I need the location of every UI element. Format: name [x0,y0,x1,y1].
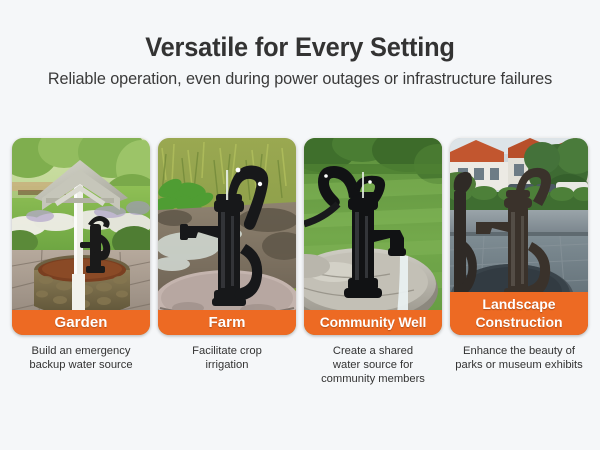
card-caption-garden: Build an emergency backup water source [12,344,150,372]
caption-line: Enhance the beauty of [463,345,575,357]
card-label-farm: Farm [208,314,245,331]
garden-well-photo [12,138,150,335]
card-label-community-well: Community Well [320,315,426,330]
use-case-card-farm[interactable]: Farm [158,138,296,335]
caption-line: parks or museum exhibits [455,359,582,371]
use-case-column-farm: Farm Facilitate crop irrigation [158,138,296,387]
use-case-card-community-well[interactable]: Community Well [304,138,442,335]
card-caption-community-well: Create a shared water source for communi… [304,344,442,387]
use-case-column-garden: Garden Build an emergency backup water s… [12,138,150,387]
use-case-column-landscape-construction: Landscape Construction Enhance the beaut… [450,138,588,387]
page-title: Versatile for Every Setting [18,0,582,61]
card-label-band-farm: Farm [158,310,296,335]
caption-line: Create a shared [333,345,413,357]
use-case-card-row: Garden Build an emergency backup water s… [12,138,588,387]
caption-line: irrigation [206,359,249,371]
card-label-landscape-construction: Landscape [482,296,555,313]
card-caption-farm: Facilitate crop irrigation [158,344,296,372]
caption-line: backup water source [29,359,132,371]
page-subtitle: Reliable operation, even during power ou… [5,61,596,89]
card-label-band-community-well: Community Well [304,310,442,335]
use-case-card-garden[interactable]: Garden [12,138,150,335]
community-well-photo [304,138,442,335]
use-case-column-community-well: Community Well Create a shared water sou… [304,138,442,387]
caption-line: Build an emergency [32,345,131,357]
farm-pump-photo [158,138,296,335]
use-case-card-landscape-construction[interactable]: Landscape Construction [450,138,588,335]
promo-banner: Versatile for Every Setting Reliable ope… [0,0,600,450]
caption-line: water source for [333,359,413,371]
card-label-garden: Garden [54,314,107,331]
caption-line: Facilitate crop [192,345,262,357]
card-label-band-landscape-construction: Landscape Construction [450,292,588,335]
card-label-band-garden: Garden [12,310,150,335]
header: Versatile for Every Setting Reliable ope… [0,0,600,89]
card-label-landscape-construction-line2: Construction [475,314,562,331]
card-caption-landscape-construction: Enhance the beauty of parks or museum ex… [450,344,588,372]
caption-line: community members [321,373,425,385]
